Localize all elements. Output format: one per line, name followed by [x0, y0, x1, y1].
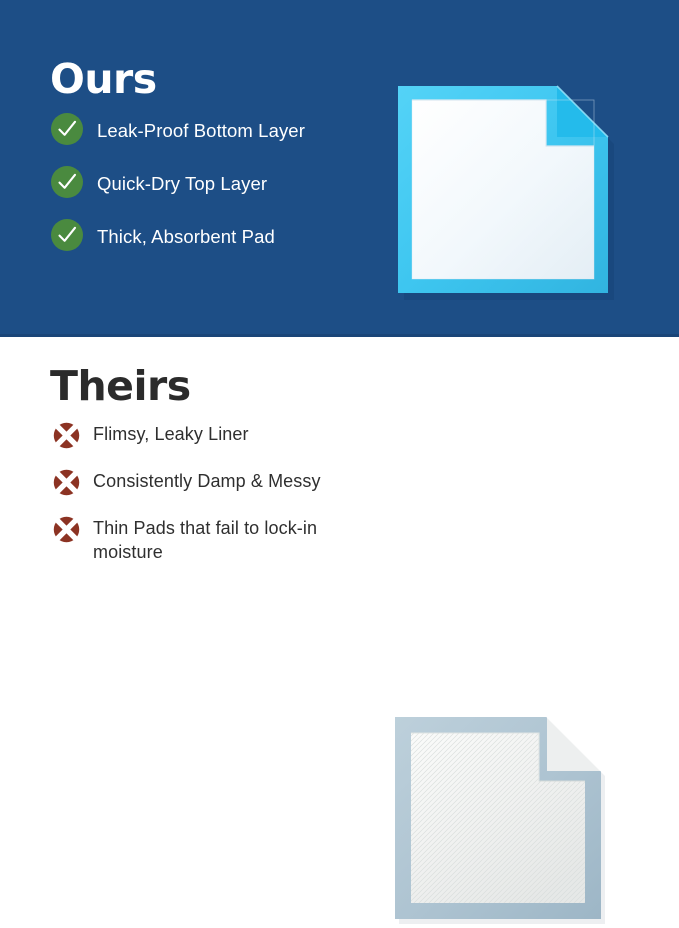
theirs-feature-label: Thin Pads that fail to lock-in moisture — [93, 516, 380, 565]
red-cross-circle-icon — [53, 469, 80, 496]
green-check-circle-icon — [50, 112, 84, 146]
grey-competitor-pad-image — [389, 713, 611, 928]
ours-feature-label: Leak-Proof Bottom Layer — [97, 115, 305, 143]
list-item: Flimsy, Leaky Liner — [50, 422, 380, 449]
list-item: Quick-Dry Top Layer — [50, 168, 380, 199]
theirs-feature-label: Consistently Damp & Messy — [93, 469, 321, 494]
green-check-circle-icon — [50, 218, 84, 252]
ours-panel: Ours Leak-Proof Bottom Layer — [0, 0, 679, 337]
list-item: Thick, Absorbent Pad — [50, 221, 380, 252]
ours-text-column: Ours Leak-Proof Bottom Layer — [50, 58, 380, 274]
list-item: Consistently Damp & Messy — [50, 469, 380, 496]
comparison-infographic: Ours Leak-Proof Bottom Layer — [0, 0, 679, 593]
theirs-text-column: Theirs Flimsy, Leaky Liner — [50, 365, 380, 585]
theirs-panel: Theirs Flimsy, Leaky Liner — [0, 337, 679, 593]
theirs-feature-label: Flimsy, Leaky Liner — [93, 422, 249, 447]
green-check-circle-icon — [50, 165, 84, 199]
ours-section-title: Ours — [50, 58, 380, 101]
blue-puppy-pad-image — [392, 82, 617, 304]
theirs-section-title: Theirs — [50, 365, 380, 408]
red-cross-circle-icon — [53, 516, 80, 543]
red-cross-circle-icon — [53, 422, 80, 449]
ours-feature-list: Leak-Proof Bottom Layer Quick-Dry Top La… — [50, 115, 380, 252]
list-item: Thin Pads that fail to lock-in moisture — [50, 516, 380, 565]
ours-feature-label: Thick, Absorbent Pad — [97, 221, 275, 249]
theirs-feature-list: Flimsy, Leaky Liner Consistently Damp & … — [50, 422, 380, 565]
ours-feature-label: Quick-Dry Top Layer — [97, 168, 267, 196]
list-item: Leak-Proof Bottom Layer — [50, 115, 380, 146]
